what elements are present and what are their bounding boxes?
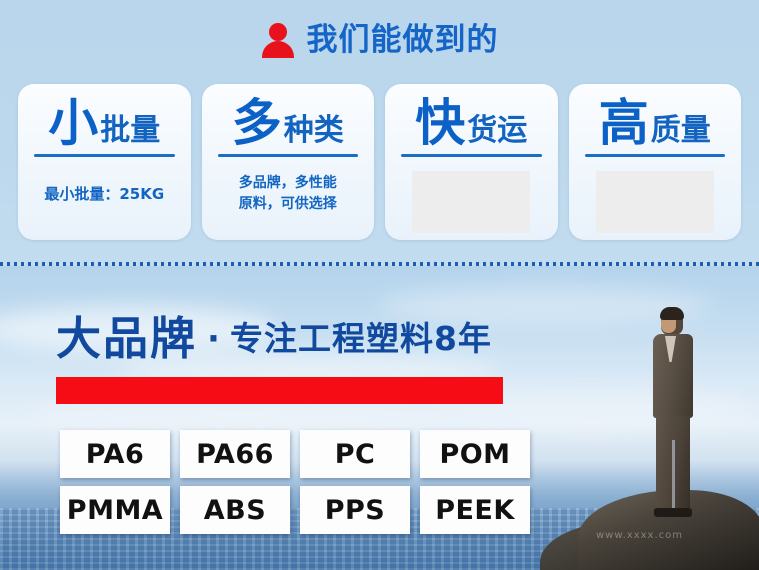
feature-card-fast-shipping[interactable]: 快 货运 bbox=[385, 84, 558, 240]
material-tag[interactable]: PEEK bbox=[420, 486, 530, 534]
card-heading: 高 质量 bbox=[579, 96, 732, 148]
material-tag-row: PA6 PA66 PC POM bbox=[60, 430, 530, 478]
card-small-text: 货运 bbox=[467, 116, 527, 146]
card-description-line: 最小批量：25KG bbox=[28, 183, 181, 206]
card-big-char: 小 bbox=[48, 98, 98, 148]
card-heading: 快 货运 bbox=[395, 96, 548, 148]
promo-page: 我们能做到的 小 批量 最小批量：25KG 多 种类 bbox=[0, 0, 759, 570]
material-tag[interactable]: PMMA bbox=[60, 486, 170, 534]
person-icon-head bbox=[269, 23, 287, 41]
card-blank-placeholder bbox=[412, 171, 530, 233]
material-tag[interactable]: ABS bbox=[180, 486, 290, 534]
brand-heading: 大品牌 · 专注工程塑料8年 bbox=[56, 316, 492, 361]
card-big-char: 快 bbox=[415, 98, 465, 148]
card-heading: 多 种类 bbox=[212, 96, 365, 148]
card-small-text: 种类 bbox=[284, 116, 344, 146]
material-tag[interactable]: PPS bbox=[300, 486, 410, 534]
card-description-line: 原料，可供选择 bbox=[212, 194, 365, 215]
card-underline bbox=[34, 154, 175, 157]
card-big-char: 多 bbox=[232, 98, 282, 148]
feature-card-high-quality[interactable]: 高 质量 bbox=[569, 84, 742, 240]
card-small-text: 质量 bbox=[651, 116, 711, 146]
card-blank-placeholder bbox=[596, 171, 714, 233]
card-heading: 小 批量 bbox=[28, 96, 181, 148]
image-watermark: www.xxxx.com bbox=[596, 530, 683, 541]
card-small-text: 批量 bbox=[100, 116, 160, 146]
card-underline bbox=[585, 154, 726, 157]
person-icon bbox=[261, 21, 295, 59]
material-tag[interactable]: POM bbox=[420, 430, 530, 478]
material-tag[interactable]: PA6 bbox=[60, 430, 170, 478]
material-tag[interactable]: PA66 bbox=[180, 430, 290, 478]
material-tag-row: PMMA ABS PPS PEEK bbox=[60, 486, 530, 534]
section-header: 我们能做到的 bbox=[0, 14, 759, 66]
red-highlight-bar bbox=[56, 377, 503, 404]
card-underline bbox=[401, 154, 542, 157]
card-description: 多品牌，多性能 原料，可供选择 bbox=[212, 173, 365, 215]
brand-separator-dot: · bbox=[207, 322, 220, 356]
feature-card-small-batch[interactable]: 小 批量 最小批量：25KG bbox=[18, 84, 191, 240]
card-underline bbox=[218, 154, 359, 157]
card-description-line: 多品牌，多性能 bbox=[212, 173, 365, 194]
businessman-leg-gap bbox=[672, 440, 675, 512]
section-title: 我们能做到的 bbox=[307, 25, 499, 56]
card-big-char: 高 bbox=[599, 98, 649, 148]
feature-card-list: 小 批量 最小批量：25KG 多 种类 多品牌，多性能 原料，可供选择 bbox=[18, 84, 741, 240]
businessman-figure bbox=[615, 290, 725, 570]
material-tag-grid: PA6 PA66 PC POM PMMA ABS PPS PEEK bbox=[60, 430, 530, 534]
businessman-hair bbox=[660, 307, 684, 320]
person-icon-body bbox=[262, 41, 294, 58]
card-description: 最小批量：25KG bbox=[28, 183, 181, 206]
businessman-shoes bbox=[654, 508, 692, 517]
feature-card-variety[interactable]: 多 种类 多品牌，多性能 原料，可供选择 bbox=[202, 84, 375, 240]
material-tag[interactable]: PC bbox=[300, 430, 410, 478]
brand-main-text: 大品牌 bbox=[56, 316, 197, 361]
features-section: 我们能做到的 小 批量 最小批量：25KG 多 种类 bbox=[0, 0, 759, 266]
brand-subtitle-text: 专注工程塑料8年 bbox=[230, 322, 492, 355]
